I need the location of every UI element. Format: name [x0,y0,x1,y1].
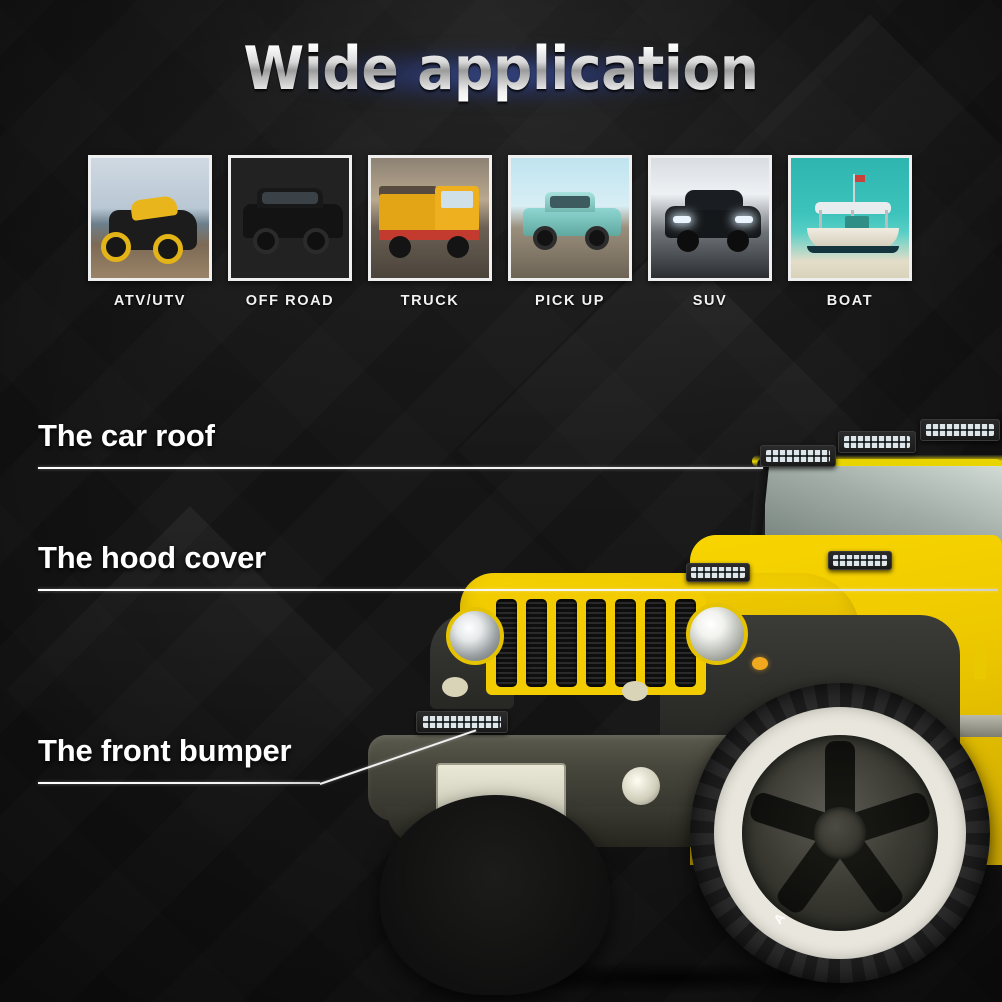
suv-headlight-right [735,216,753,223]
application-item-pick-up[interactable]: PICK UP [508,155,632,309]
led-array [926,424,993,436]
jeep-side-marker-light [752,657,768,670]
suv-scene [651,158,769,278]
jeep-turn-signal-left [442,677,468,697]
pickup-windshield [550,196,590,208]
grille-slot [556,599,577,687]
pickup-scene [511,158,629,278]
boat-flag [855,175,865,182]
jeep-under-shadow-mass [380,795,610,995]
jeep-fog-lamp [622,767,660,805]
application-label-truck: TRUCK [368,293,492,309]
jeep-wheel-hub [814,807,866,859]
pickup-wheel-front [533,226,557,250]
page-title: Wide application [243,34,758,104]
callout-rule-car-roof [38,467,763,469]
led-array [423,716,500,728]
application-label-off-road: OFF ROAD [228,293,352,309]
atv-wheel-front [101,232,131,262]
truck-scene [371,158,489,278]
jeep-wrangler-illustration: All-Terrain T/A BFGoodrich [360,415,1002,1002]
grille-slot [526,599,547,687]
atv-wheel-rear [153,234,183,264]
atv-scene [91,158,209,278]
callout-front-bumper: The front bumper [38,733,320,784]
offroad-suv-wheel-rear [303,228,329,254]
callout-car-roof: The car roof [38,418,763,469]
callout-hood-cover: The hood cover [38,540,998,591]
callout-label-car-roof: The car roof [38,418,763,454]
thumbnail-pick-up[interactable] [508,155,632,281]
jeep-seven-slot-grille [486,591,706,695]
offroad-suv-glass [262,192,318,204]
suv-wheel-front [677,230,699,252]
led-light-bar-bumper [416,711,508,733]
jeep-headlight-left [446,607,504,665]
grille-slot [586,599,607,687]
application-label-boat: BOAT [788,293,912,309]
application-item-truck[interactable]: TRUCK [368,155,492,309]
callout-label-hood-cover: The hood cover [38,540,998,576]
product-infographic-page: Wide application ATV/UTV [0,0,1002,1002]
boat-hull-stripe [807,246,899,253]
led-light-bar-roof-2 [838,431,916,453]
truck-windshield [441,191,473,208]
callout-label-front-bumper: The front bumper [38,733,320,769]
jeep-door-hinge [974,645,986,679]
boat-scene [791,158,909,278]
application-item-off-road[interactable]: OFF ROAD [228,155,352,309]
application-label-suv: SUV [648,293,772,309]
application-label-pick-up: PICK UP [508,293,632,309]
suv-wheel-rear [727,230,749,252]
thumbnail-off-road[interactable] [228,155,352,281]
led-array [766,450,830,462]
jeep-headlight-right [686,603,748,665]
application-item-suv[interactable]: SUV [648,155,772,309]
grille-slot [645,599,666,687]
thumbnail-atv-utv[interactable] [88,155,212,281]
thumbnail-truck[interactable] [368,155,492,281]
application-item-boat[interactable]: BOAT [788,155,912,309]
callout-rule-hood-cover [38,589,998,591]
led-array [844,436,909,448]
off-road-scene [231,158,349,278]
thumbnail-suv[interactable] [648,155,772,281]
led-light-bar-roof-3 [920,419,1000,441]
jeep-turn-signal-right [622,681,648,701]
thumbnail-boat[interactable] [788,155,912,281]
application-item-atv-utv[interactable]: ATV/UTV [88,155,212,309]
application-label-atv-utv: ATV/UTV [88,293,212,309]
truck-wheel-front [447,236,469,258]
grille-slot [615,599,636,687]
suv-roof [685,190,743,210]
truck-wheel-rear [389,236,411,258]
pickup-wheel-rear [585,226,609,250]
callout-rule-front-bumper [38,782,320,784]
offroad-suv-wheel-front [253,228,279,254]
truck-bed [379,194,437,232]
page-title-container: Wide application [0,34,1002,104]
application-thumbnail-strip: ATV/UTV OFF ROAD [88,155,926,315]
led-light-bar-roof-1 [760,445,836,467]
suv-headlight-left [673,216,691,223]
